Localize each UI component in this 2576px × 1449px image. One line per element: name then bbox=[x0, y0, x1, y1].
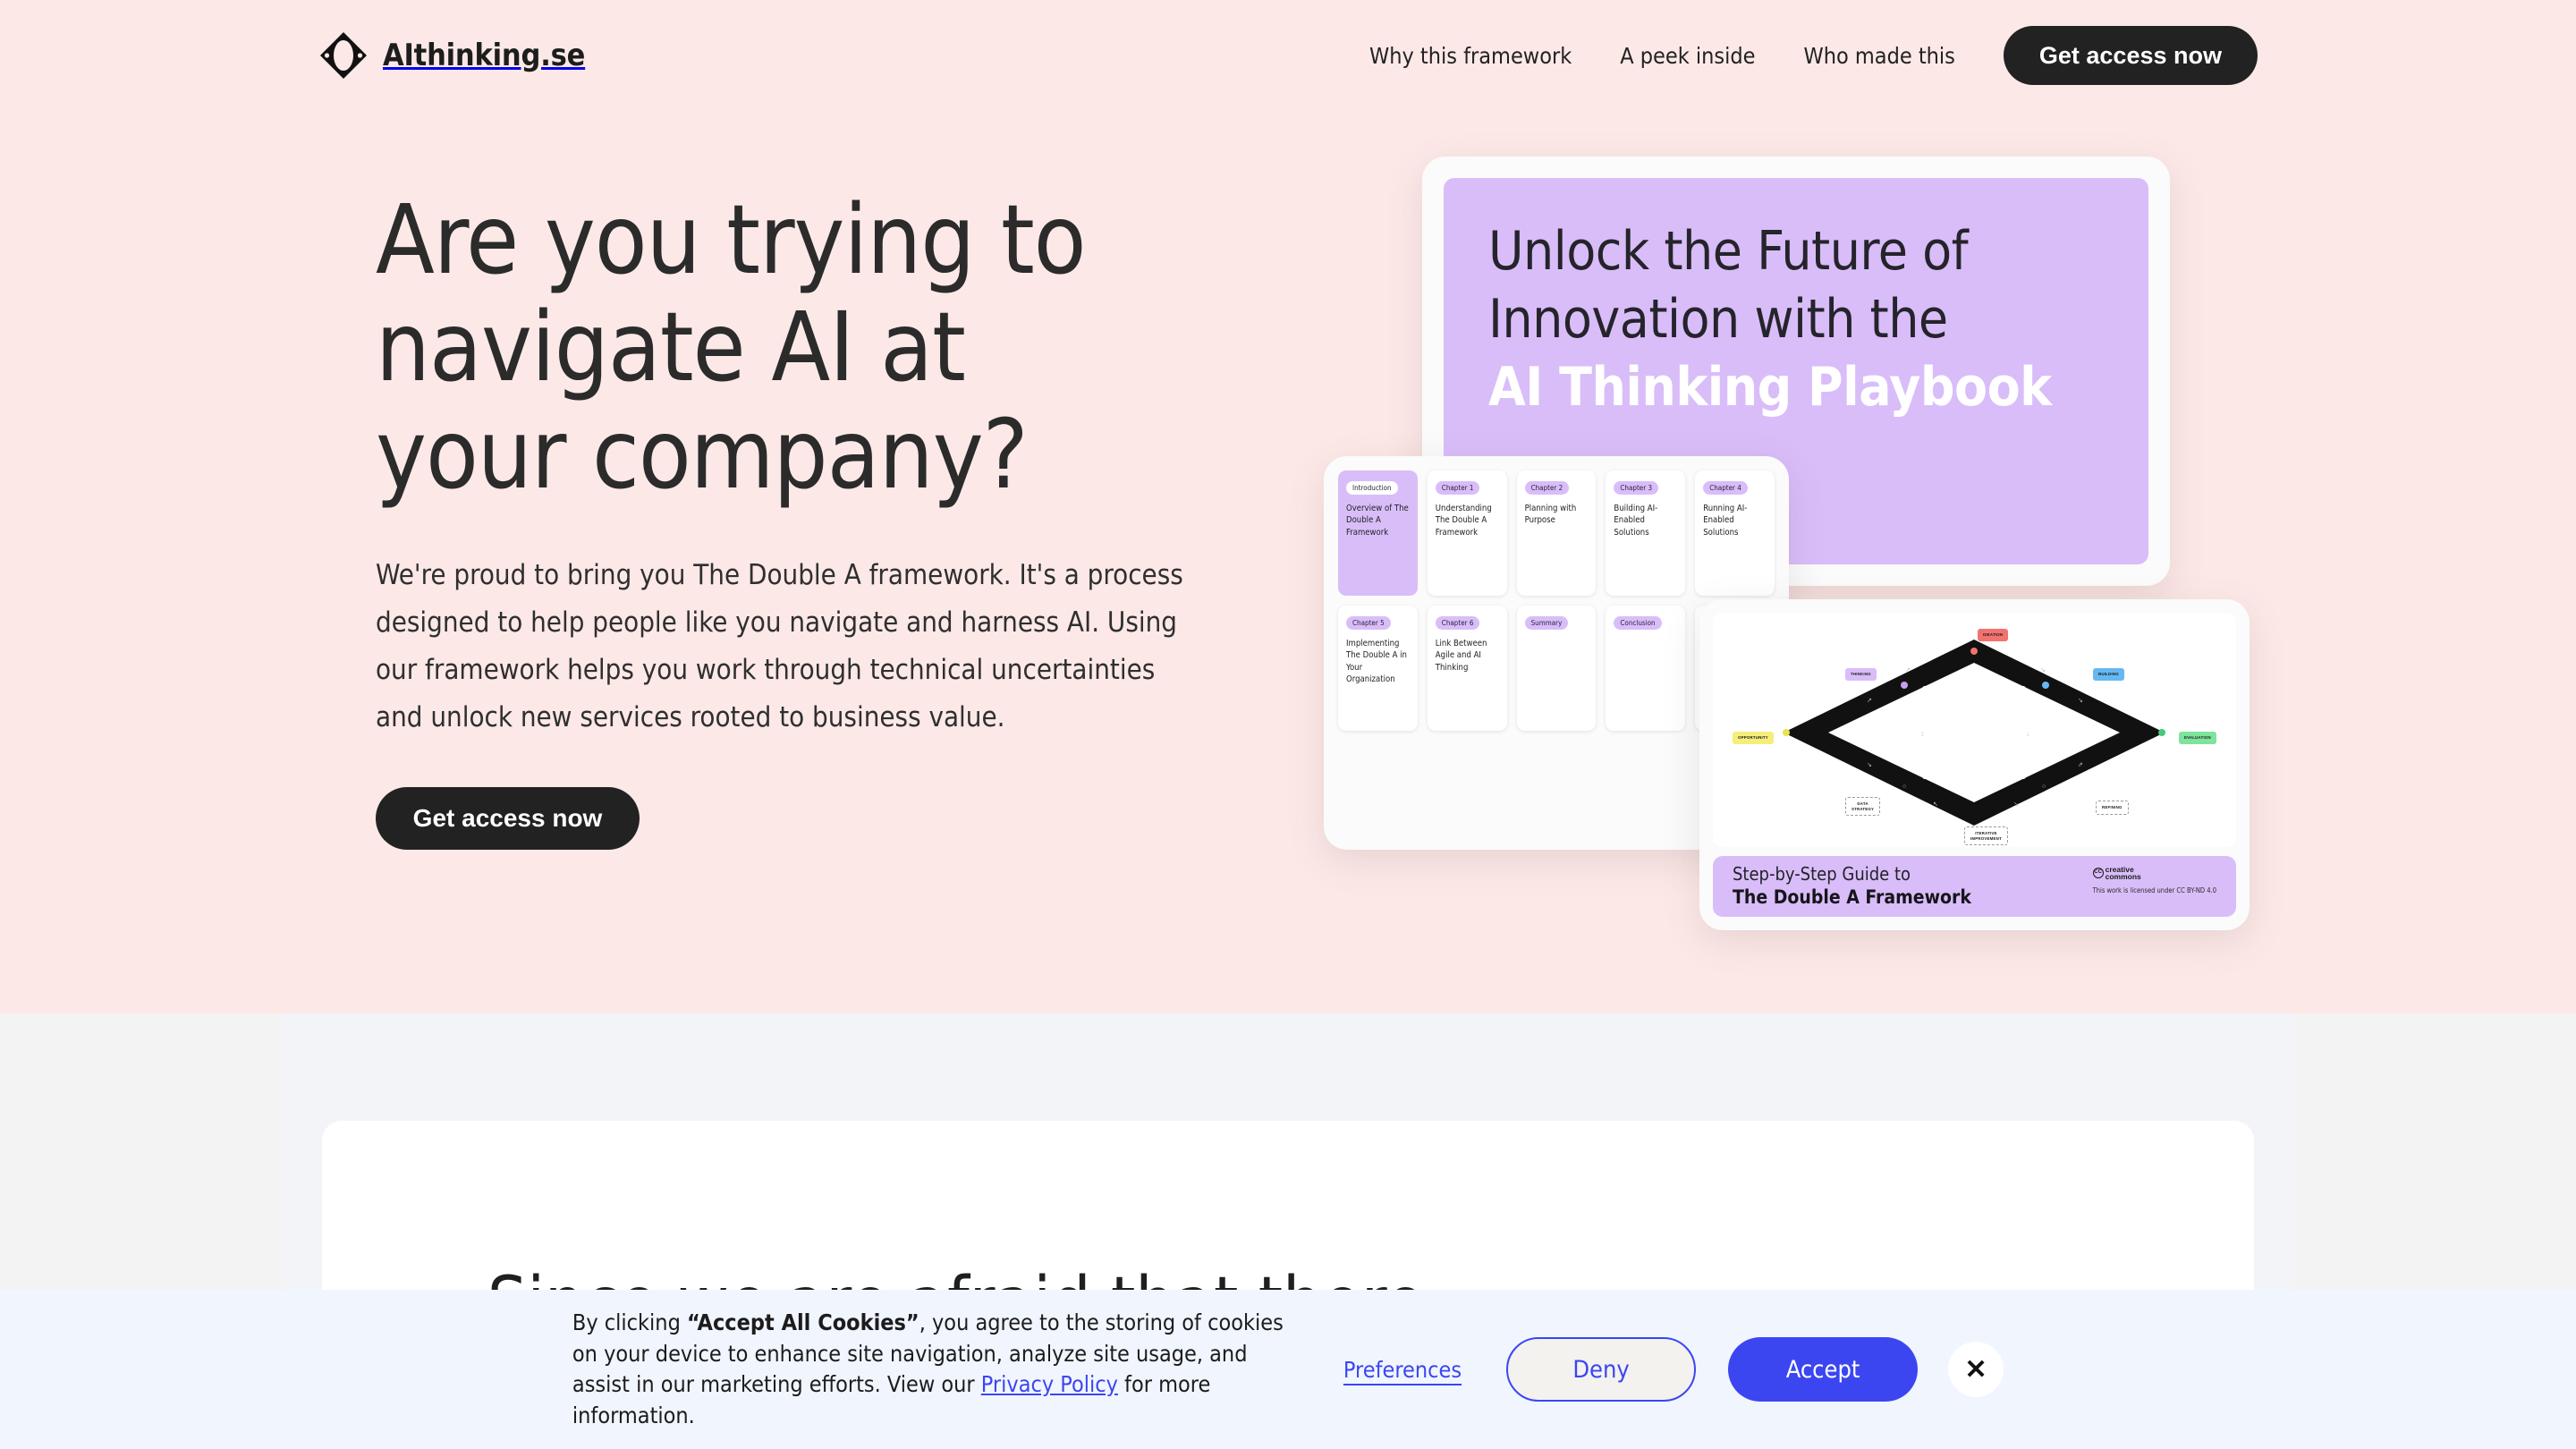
cover-line-1: Unlock the Future of bbox=[1488, 217, 2104, 285]
diagram-card-footer: Step-by-Step Guide to The Double A Frame… bbox=[1713, 856, 2236, 917]
diagram-footer-line-2: The Double A Framework bbox=[1733, 885, 1971, 910]
brand-logo-link[interactable]: AIthinking.se bbox=[318, 30, 585, 80]
playbook-diagram-card[interactable]: ↗ ↘ ↗ ↘ ↘ ⇗ ↕ ↓ ○ ○ ↖ ↘ ○ IDEATION THINK… bbox=[1699, 599, 2250, 930]
diagram-label-ideation: IDEATION bbox=[1978, 629, 2008, 641]
site-header: AIthinking.se Why this framework A peek … bbox=[0, 0, 2576, 111]
nav-link-a-peek-inside[interactable]: A peek inside bbox=[1620, 43, 1755, 69]
chapter-card[interactable]: Summary bbox=[1517, 606, 1597, 731]
chapter-tag: Conclusion bbox=[1614, 616, 1661, 630]
chapter-tag: Chapter 2 bbox=[1525, 481, 1570, 495]
chapter-card[interactable]: Chapter 3 Building AI-Enabled Solutions bbox=[1606, 470, 1685, 596]
diagram-label-opportunity: OPPORTUNITY bbox=[1733, 732, 1774, 744]
svg-text:↗: ↗ bbox=[1867, 698, 1872, 704]
svg-text:○: ○ bbox=[2042, 784, 2046, 790]
playbook-preview-composition: Unlock the Future of Innovation with the… bbox=[1324, 143, 2218, 930]
cookie-banner-text: By clicking “Accept All Cookies”, you ag… bbox=[572, 1308, 1288, 1431]
chapter-tag: Chapter 3 bbox=[1614, 481, 1658, 495]
cookie-preferences-link[interactable]: Preferences bbox=[1343, 1357, 1462, 1383]
license-note: This work is licensed under CC BY-ND 4.0 bbox=[2093, 886, 2216, 895]
chapter-card[interactable]: Chapter 1 Understanding The Double A Fra… bbox=[1428, 470, 1507, 596]
hero-get-access-button[interactable]: Get access now bbox=[376, 787, 640, 850]
cover-line-2: Innovation with the bbox=[1488, 285, 2104, 353]
hero-section: AIthinking.se Why this framework A peek … bbox=[0, 0, 2576, 1013]
double-a-diagram: ↗ ↘ ↗ ↘ ↘ ⇗ ↕ ↓ ○ ○ ↖ ↘ ○ IDEATION THINK… bbox=[1713, 613, 2236, 847]
svg-text:↖: ↖ bbox=[1933, 801, 1938, 808]
cookie-consent-banner: By clicking “Accept All Cookies”, you ag… bbox=[0, 1290, 2576, 1449]
chapter-card[interactable]: Chapter 2 Planning with Purpose bbox=[1517, 470, 1597, 596]
diagram-footer-line-1: Step-by-Step Guide to bbox=[1733, 862, 1971, 885]
cover-line-3: AI Thinking Playbook bbox=[1488, 353, 2104, 421]
chapter-title: Building AI-Enabled Solutions bbox=[1614, 503, 1677, 538]
chapter-title: Link Between Agile and AI Thinking bbox=[1436, 638, 1499, 674]
svg-text:↘: ↘ bbox=[1867, 762, 1872, 768]
chapter-title: Implementing The Double A in Your Organi… bbox=[1346, 638, 1410, 685]
svg-text:↕: ↕ bbox=[1920, 729, 1925, 738]
chapter-title: Planning with Purpose bbox=[1525, 503, 1589, 527]
svg-text:⇗: ⇗ bbox=[2078, 762, 2083, 768]
creative-commons-block: CC creativecommons This work is licensed… bbox=[2093, 866, 2216, 895]
chapter-tag: Introduction bbox=[1346, 481, 1398, 495]
chapter-tag: Chapter 1 bbox=[1436, 481, 1480, 495]
diamond-eye-logo-icon bbox=[318, 30, 369, 80]
cookie-text-prefix: By clicking bbox=[572, 1309, 687, 1335]
hero-title-line-1: Are you trying to bbox=[376, 185, 1086, 296]
diagram-label-iterative-improvement: ITERATIVE IMPROVEMENT bbox=[1964, 826, 2008, 845]
chapter-card[interactable]: Conclusion bbox=[1606, 606, 1685, 731]
page-title: Are you trying to navigate AI at your co… bbox=[376, 188, 1270, 509]
creative-commons-icon: CC creativecommons bbox=[2093, 866, 2216, 880]
chapter-tag: Summary bbox=[1525, 616, 1569, 630]
chapter-title: Running AI-Enabled Solutions bbox=[1703, 503, 1767, 538]
chapter-tag: Chapter 4 bbox=[1703, 481, 1748, 495]
chapter-title: Overview of The Double A Framework bbox=[1346, 503, 1410, 538]
svg-text:○: ○ bbox=[1902, 784, 1906, 790]
privacy-policy-link[interactable]: Privacy Policy bbox=[981, 1371, 1118, 1397]
cookie-text-bold: “Accept All Cookies” bbox=[687, 1309, 919, 1335]
chapter-card[interactable]: Chapter 4 Running AI-Enabled Solutions bbox=[1695, 470, 1775, 596]
cookie-deny-button[interactable]: Deny bbox=[1506, 1337, 1696, 1402]
chapter-card[interactable]: Chapter 5 Implementing The Double A in Y… bbox=[1338, 606, 1418, 731]
close-icon[interactable]: ✕ bbox=[1948, 1342, 2004, 1397]
header-get-access-button[interactable]: Get access now bbox=[2004, 26, 2258, 85]
svg-text:↗: ↗ bbox=[1905, 667, 1911, 674]
brand-name: AIthinking.se bbox=[383, 38, 585, 73]
chapter-tag: Chapter 6 bbox=[1436, 616, 1480, 630]
svg-text:↓: ↓ bbox=[2026, 729, 2030, 738]
svg-text:↘: ↘ bbox=[2040, 667, 2046, 674]
diagram-label-thinking: THINKING bbox=[1845, 668, 1877, 681]
diagram-label-refining: REFINING bbox=[2096, 801, 2129, 815]
nav-link-why-this-framework[interactable]: Why this framework bbox=[1369, 43, 1572, 69]
svg-text:↘: ↘ bbox=[2078, 698, 2083, 704]
chapter-card[interactable]: Introduction Overview of The Double A Fr… bbox=[1338, 470, 1418, 596]
nav-link-who-made-this[interactable]: Who made this bbox=[1803, 43, 1954, 69]
hero-copy: Are you trying to navigate AI at your co… bbox=[376, 188, 1270, 850]
hero-title-line-2: navigate AI at bbox=[376, 292, 965, 403]
diagram-label-building: BUILDING bbox=[2093, 668, 2124, 681]
diagram-label-data-strategy: DATA STRATEGY bbox=[1845, 797, 1880, 816]
svg-text:↘: ↘ bbox=[2013, 801, 2019, 808]
chapter-tag: Chapter 5 bbox=[1346, 616, 1391, 630]
chapter-title: Understanding The Double A Framework bbox=[1436, 503, 1499, 538]
main-nav: Why this framework A peek inside Who mad… bbox=[1369, 0, 2258, 111]
hero-subtitle: We're proud to bring you The Double A fr… bbox=[376, 552, 1203, 741]
diagram-label-evaluation: EVALUATION bbox=[2179, 732, 2216, 744]
chapter-card[interactable]: Chapter 6 Link Between Agile and AI Thin… bbox=[1428, 606, 1507, 731]
cookie-accept-button[interactable]: Accept bbox=[1728, 1337, 1918, 1402]
hero-title-line-3: your company? bbox=[376, 400, 1028, 511]
